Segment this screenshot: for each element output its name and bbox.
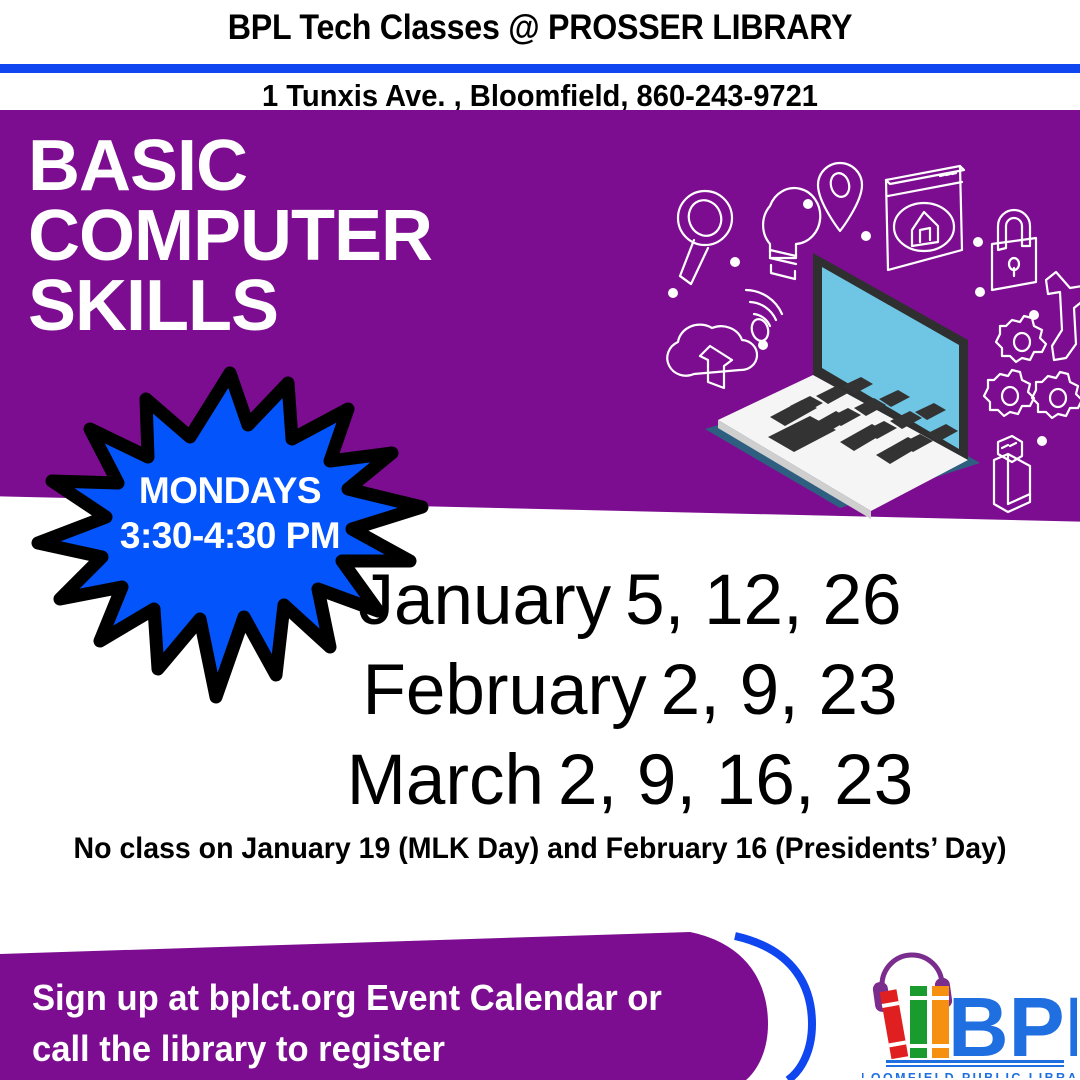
- month-days: 2, 9, 16, 23: [558, 741, 913, 820]
- burst-time-label: 3:30-4:30 PM: [30, 513, 430, 558]
- wifi-icon: [746, 290, 782, 343]
- cloud-upload-icon: [667, 325, 757, 388]
- headphones-icon: [882, 955, 942, 986]
- technology-illustration: [650, 130, 1080, 530]
- poster: BPL Tech Classes @ PROSSER LIBRARY 1 Tun…: [0, 0, 1080, 1080]
- logo-library-name: BLOOMFIELD PUBLIC LIBRARY: [862, 1071, 1077, 1078]
- wrench-icon: [1046, 272, 1080, 360]
- padlock-icon: [992, 210, 1036, 290]
- books-icon: [880, 986, 949, 1059]
- month-days: 5, 12, 26: [625, 561, 901, 640]
- hero-title-line-2: COMPUTER: [28, 202, 432, 272]
- header-divider: [0, 64, 1080, 73]
- schedule-list: January5, 12, 26 February2, 9, 23 March2…: [300, 556, 960, 826]
- hero-title: BASIC COMPUTER SKILLS: [28, 132, 432, 341]
- schedule-row-february: February2, 9, 23: [300, 646, 960, 736]
- hero-title-line-1: BASIC: [28, 132, 432, 202]
- usb-drive-icon: [994, 436, 1030, 512]
- signup-line-2: call the library to register: [32, 1023, 704, 1074]
- laptop-illustration: [705, 253, 980, 519]
- logo-rule: [886, 1060, 1064, 1063]
- month-label: January: [359, 561, 612, 640]
- magnifier-icon: [678, 191, 732, 284]
- browser-home-icon: [886, 166, 964, 270]
- month-days: 2, 9, 23: [661, 651, 898, 730]
- bpl-logo: BPL BLOOMFIELD PUBLIC LIBRARY We're here…: [862, 938, 1077, 1078]
- hero-title-line-3: SKILLS: [28, 272, 432, 342]
- signup-text: Sign up at bplct.org Event Calendar or c…: [32, 972, 704, 1074]
- month-label: February: [363, 651, 647, 730]
- location-pin-icon: [818, 163, 862, 231]
- logo-wordmark: BPL: [948, 980, 1077, 1074]
- page-title: BPL Tech Classes @ PROSSER LIBRARY: [43, 8, 1037, 48]
- address-line: 1 Tunxis Ave. , Bloomfield, 860-243-9721: [32, 78, 1047, 114]
- logo-rule-thin: [886, 1065, 1064, 1067]
- month-label: March: [347, 741, 544, 820]
- gears-icon: [984, 316, 1080, 418]
- no-class-note: No class on January 19 (MLK Day) and Feb…: [27, 832, 1053, 866]
- burst-day-label: MONDAYS: [30, 468, 430, 513]
- burst-text: MONDAYS 3:30-4:30 PM: [30, 468, 430, 558]
- schedule-row-january: January5, 12, 26: [300, 556, 960, 646]
- signup-line-1: Sign up at bplct.org Event Calendar or: [32, 972, 704, 1023]
- schedule-row-march: March2, 9, 16, 23: [300, 736, 960, 826]
